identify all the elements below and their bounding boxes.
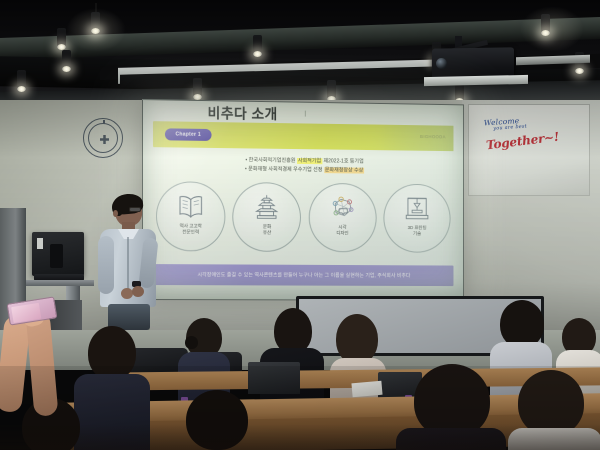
track-light-icon [62,50,71,69]
presenter-ear [113,210,118,217]
monitor-shelf [26,280,94,286]
track-light-icon [193,78,202,97]
track-light-icon [541,14,550,33]
track-light-icon [91,12,100,31]
lecture-hall-photo: Welcome you are best Together~! Chapter … [0,0,600,450]
audience-head [88,326,136,380]
wall-monitor [32,232,84,276]
audience-hair-bun [185,336,198,349]
glasses-icon [129,207,141,212]
presenter-right-hand [132,286,144,297]
track-light-icon [253,35,262,54]
monitor-label-tag [37,238,43,249]
bottom-vignette [0,424,600,450]
presenter-shirt-placket [127,237,129,295]
audience-head [500,300,544,348]
track-light-icon [327,80,336,99]
projector-lens-icon [436,58,447,69]
presenter-speaker [96,196,162,328]
track-light-icon [57,28,66,47]
phone-screen [11,303,41,323]
track-light-icon [17,70,26,89]
audience-head [336,314,378,364]
handout-papers [351,381,382,398]
presenter-left-arm [98,236,114,294]
